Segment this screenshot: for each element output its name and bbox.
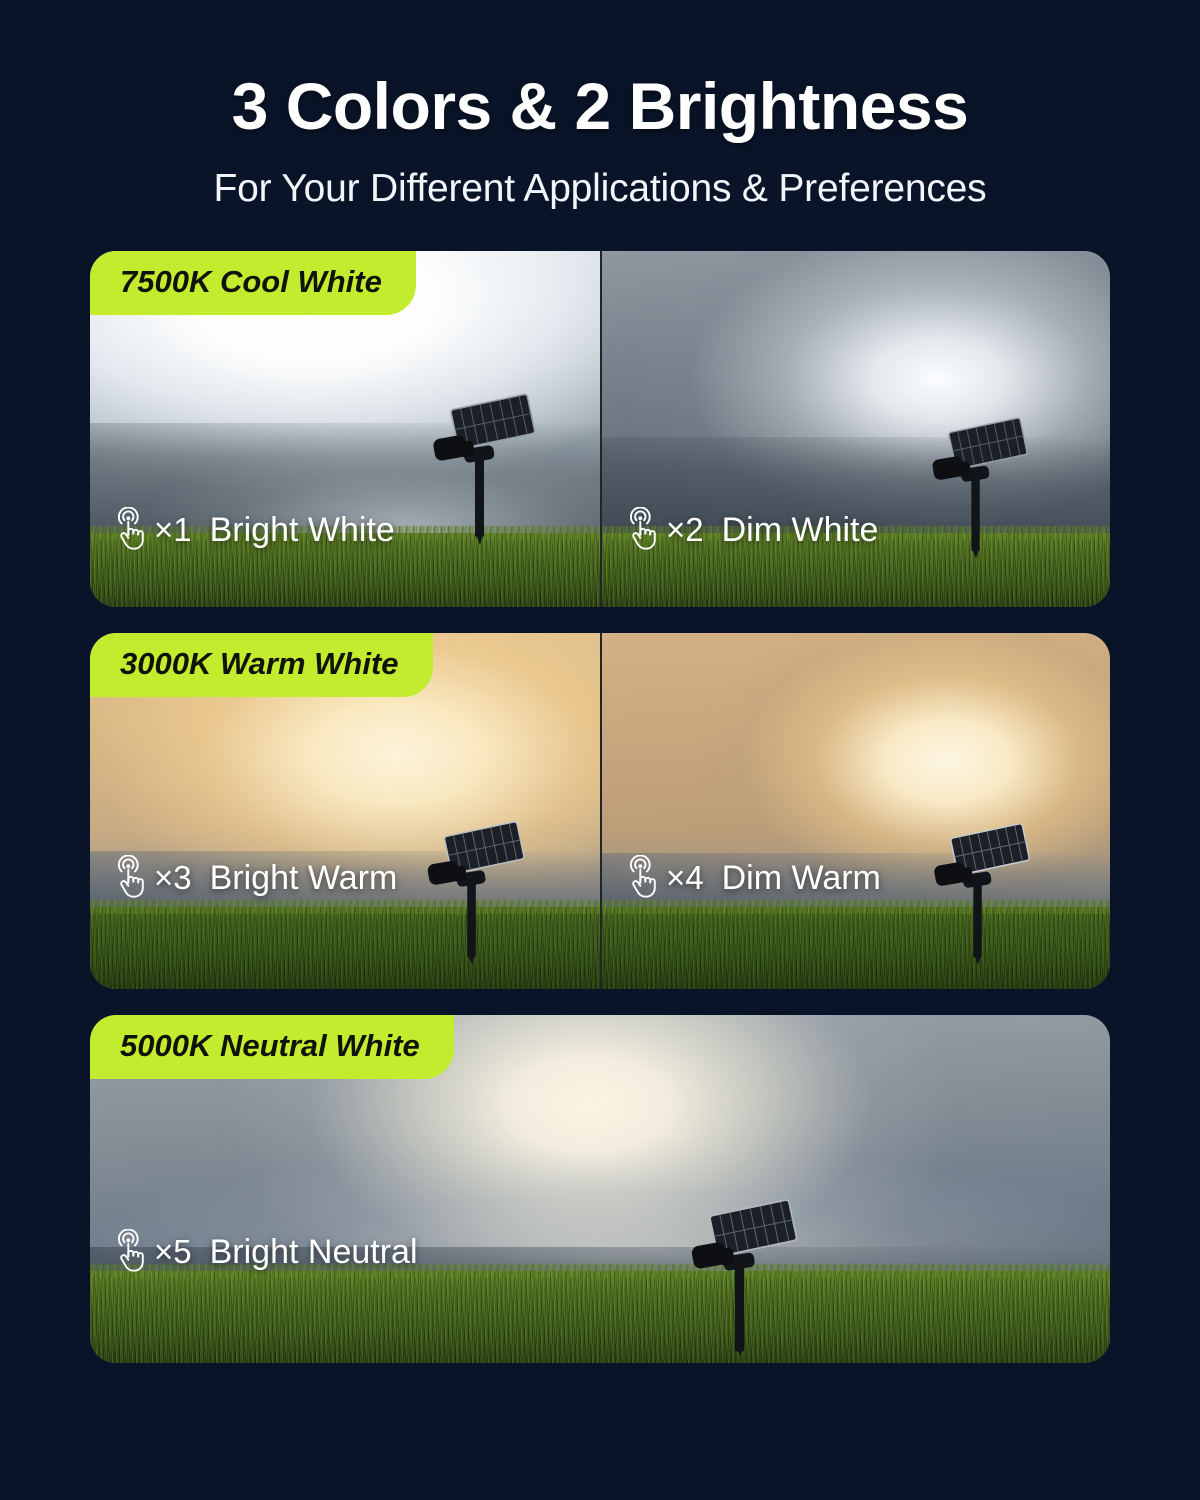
solar-spotlight-icon [414,813,530,965]
solar-spotlight-icon [420,385,540,545]
press-count: ×3 [154,859,192,897]
tap-gesture-icon [112,1229,152,1275]
solar-spotlight-icon [920,815,1036,965]
mode-label: Bright Warm [210,859,398,898]
header: 3 Colors & 2 Brightness For Your Differe… [0,0,1200,211]
press-count: ×2 [666,511,704,549]
press-count: ×5 [154,1233,192,1271]
press-count: ×1 [154,511,192,549]
mode-label: Dim Warm [722,859,881,898]
tap-gesture-icon [624,507,664,553]
caption-dim-white: ×2 Dim White [624,507,878,553]
badge-cool-white: 7500K Cool White [90,251,416,315]
solar-spotlight-icon [678,1187,802,1359]
mode-label: Bright Neutral [210,1233,418,1272]
mode-label: Bright White [210,511,395,550]
mode-row-cool-white: 7500K Cool White [90,251,1110,607]
page-title: 3 Colors & 2 Brightness [0,72,1200,141]
mode-row-warm-white: 3000K Warm White [90,633,1110,989]
caption-dim-warm: ×4 Dim Warm [624,855,881,901]
page-subtitle: For Your Different Applications & Prefer… [0,167,1200,211]
badge-warm-white: 3000K Warm White [90,633,433,697]
caption-bright-warm: ×3 Bright Warm [112,855,397,901]
caption-bright-white: ×1 Bright White [112,507,395,553]
caption-bright-neutral: ×5 Bright Neutral [112,1229,418,1275]
mode-row-neutral-white: 5000K Neutral White [90,1015,1110,1363]
infographic-page: 3 Colors & 2 Brightness For Your Differe… [0,0,1200,1500]
solar-spotlight-icon [920,409,1032,559]
tap-gesture-icon [112,855,152,901]
mode-label: Dim White [722,511,879,550]
press-count: ×4 [666,859,704,897]
grass-foreground [90,1271,1110,1363]
scene-dim-white[interactable]: ×2 Dim White [600,251,1110,607]
scene-dim-warm[interactable]: ×4 Dim Warm [600,633,1110,989]
badge-neutral-white: 5000K Neutral White [90,1015,454,1079]
tap-gesture-icon [624,855,664,901]
tap-gesture-icon [112,507,152,553]
mode-rows: 7500K Cool White [0,251,1200,1363]
